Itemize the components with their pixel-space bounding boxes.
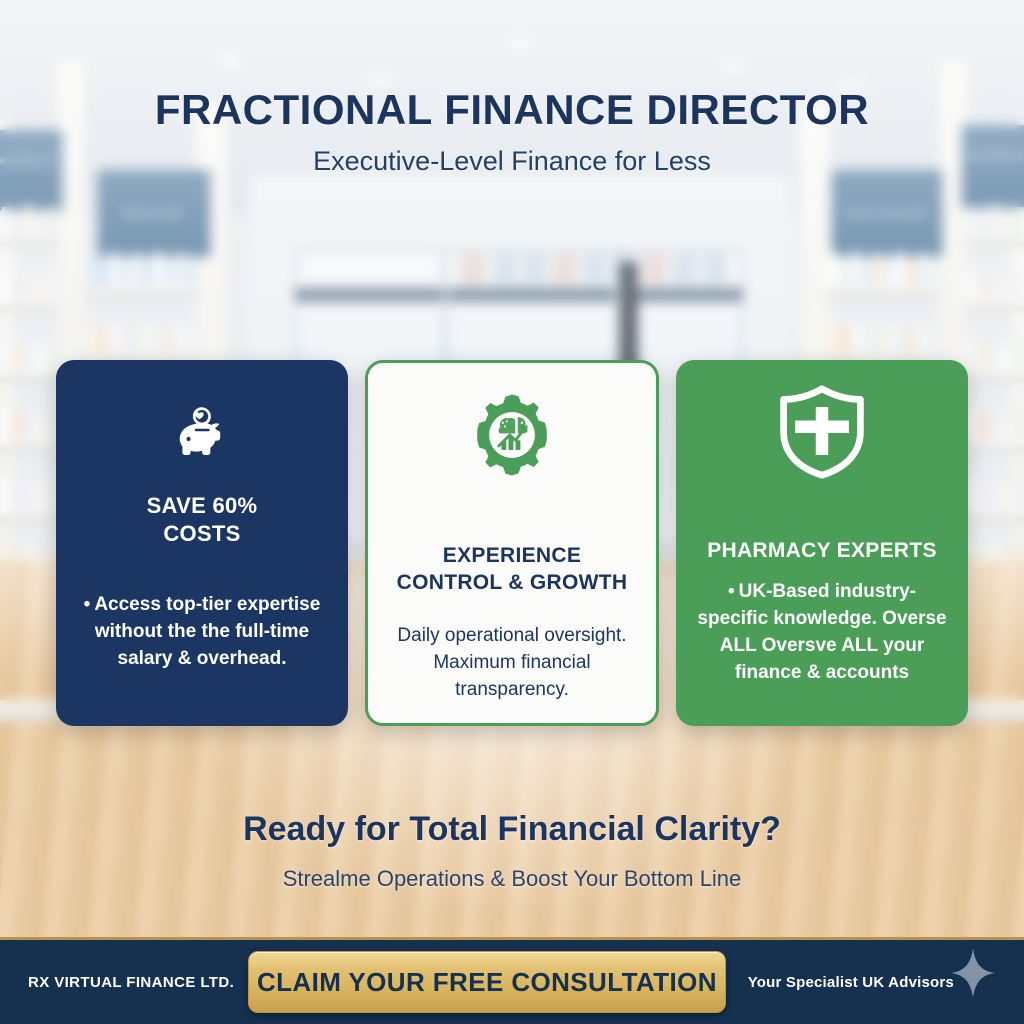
footer-tagline: Your Specialist UK Advisors [748,974,954,991]
bullet-marker: • [84,594,91,615]
cta-heading: Ready for Total Financial Clarity? [0,810,1024,849]
card-title: SAVE 60% COSTS [147,492,258,548]
card-title: PHARMACY EXPERTS [707,538,937,565]
piggy-bank-icon [171,386,233,478]
bullet-marker: • [728,581,735,602]
footer-tagline-group: Your Specialist UK Advisors [748,947,996,1018]
card-title-line1: EXPERIENCE [443,544,581,567]
gear-brain-chart-icon [468,389,556,481]
card-experience-control-growth[interactable]: EXPERIENCE CONTROL & GROWTH Daily operat… [365,360,659,726]
footer-bar: RX VIRTUAL FINANCE LTD. CLAIM YOUR FREE … [0,937,1024,1024]
shield-cross-icon [774,386,870,478]
card-save-costs[interactable]: SAVE 60% COSTS •Access top-tier expertis… [56,360,348,726]
card-pharmacy-experts[interactable]: PHARMACY EXPERTS •UK-Based industry-spec… [676,360,968,726]
card-title-line2: CONTROL & GROWTH [397,571,628,594]
card-body: •Access top-tier expertise without the t… [74,592,330,673]
page-subtitle: Executive-Level Finance for Less [0,146,1024,177]
card-title-line1: SAVE 60% [147,493,258,518]
card-body: •UK-Based industry-specific knowledge. O… [694,579,950,687]
company-name: RX VIRTUAL FINANCE LTD. [28,974,234,991]
card-body-text: Access top-tier expertise without the th… [94,594,320,669]
claim-consultation-button[interactable]: CLAIM YOUR FREE CONSULTATION [248,951,726,1013]
sparkle-icon [950,947,996,1004]
cta-subheading: Strealme Operations & Boost Your Bottom … [0,866,1024,892]
card-title: EXPERIENCE CONTROL & GROWTH [397,543,628,597]
page-title: FRACTIONAL FINANCE DIRECTOR [0,86,1024,134]
feature-cards: SAVE 60% COSTS •Access top-tier expertis… [56,360,968,726]
card-title-line2: COSTS [163,521,240,546]
card-body: Daily operational oversight. Maximum fin… [386,623,638,704]
